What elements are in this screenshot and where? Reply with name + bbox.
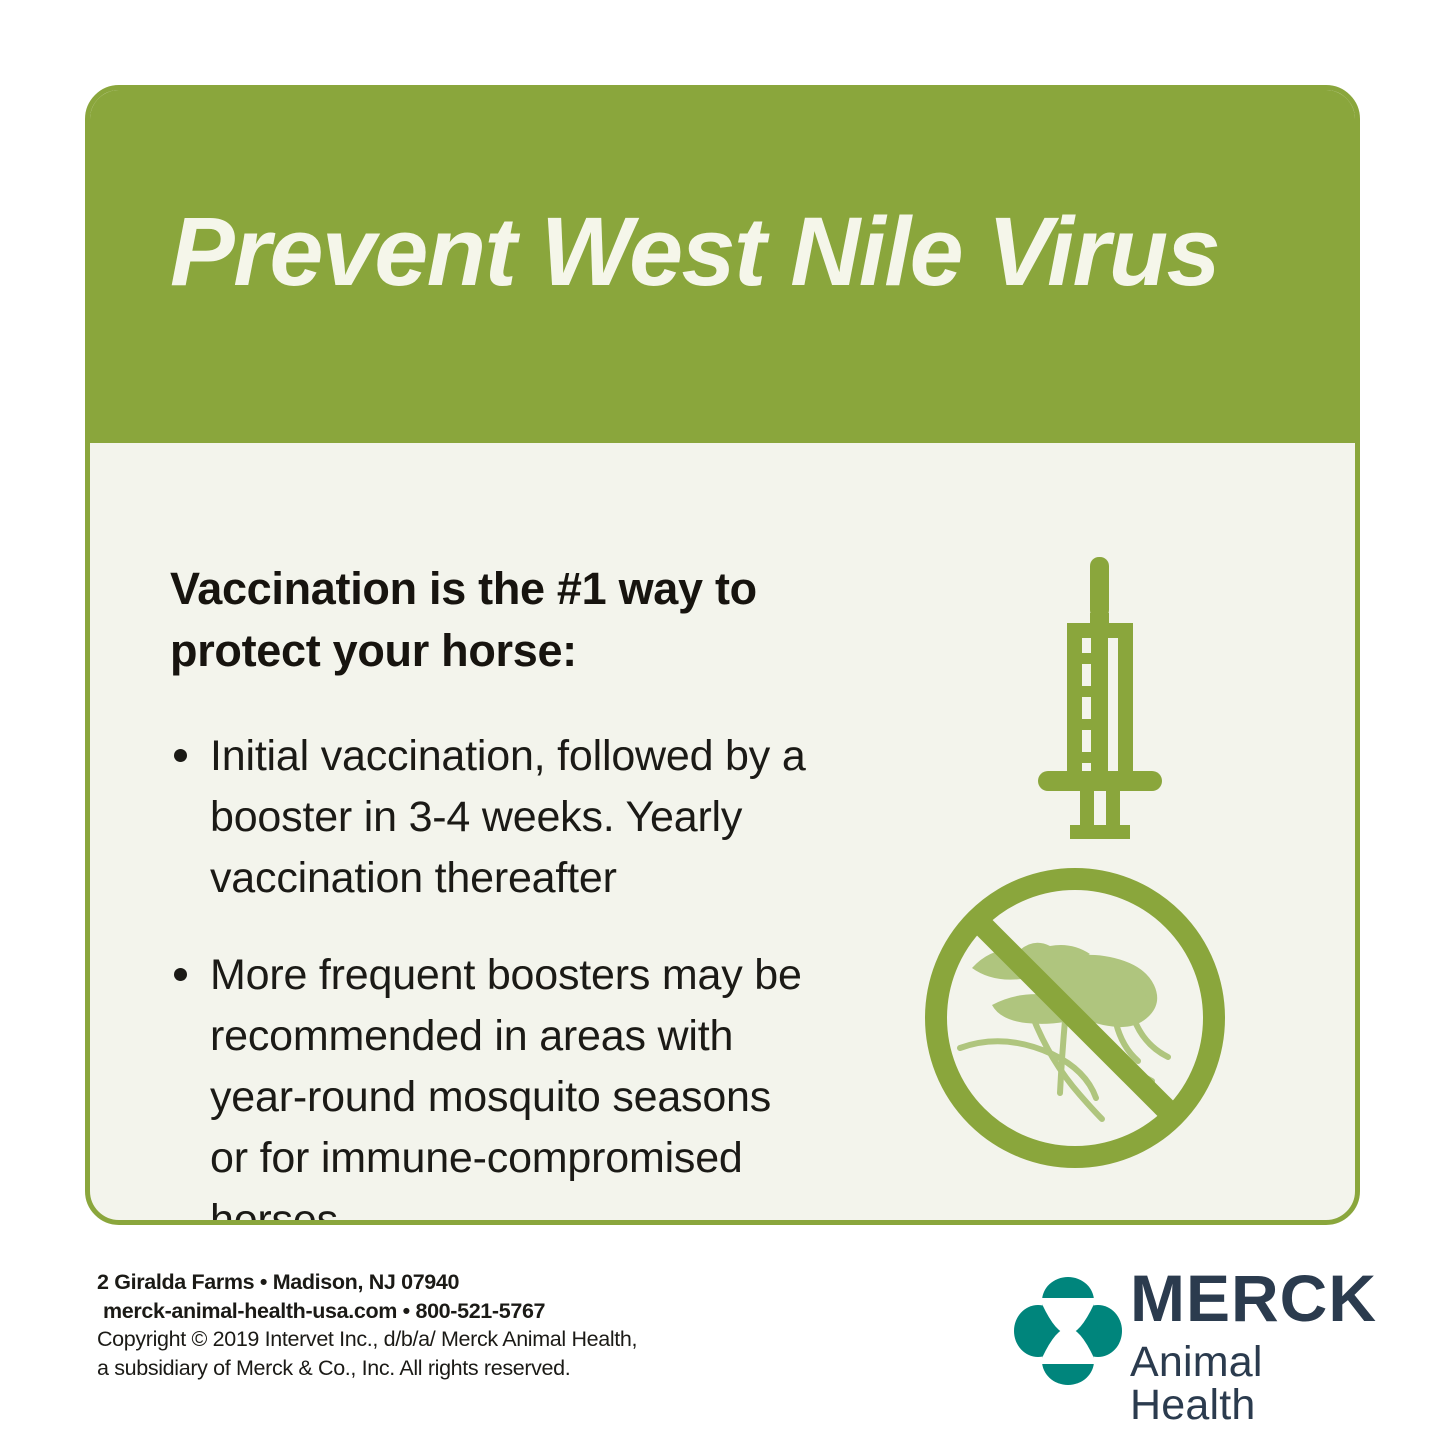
merck-wordmark-text: MERCK: [1130, 1261, 1377, 1335]
icon-column: [890, 518, 1310, 1218]
page-title: Prevent West Nile Virus: [170, 203, 1219, 300]
animal-health-text: Animal Health: [1130, 1341, 1377, 1427]
footer-address-block: 2 Giralda Farms • Madison, NJ 07940 merc…: [97, 1268, 737, 1382]
list-item: Initial vaccination, followed by a boost…: [170, 726, 810, 909]
list-item: More frequent boosters may be recommende…: [170, 945, 810, 1225]
syringe-icon: [1020, 553, 1180, 848]
merck-wordmark: MERCK Animal Health: [1130, 1265, 1377, 1427]
bullet-dot-icon: [174, 968, 187, 981]
list-item-text: Initial vaccination, followed by a boost…: [210, 732, 806, 902]
infographic-card: Prevent West Nile Virus Vaccination is t…: [85, 85, 1360, 1225]
copyright-line: Copyright © 2019 Intervet Inc., d/b/a/ M…: [97, 1325, 737, 1354]
copy-column: Vaccination is the #1 way to protect you…: [170, 558, 810, 1225]
lede-heading: Vaccination is the #1 way to protect you…: [170, 558, 810, 682]
merck-clover-icon: [1012, 1275, 1124, 1392]
footer: 2 Giralda Farms • Madison, NJ 07940 merc…: [0, 1243, 1445, 1443]
bullet-list: Initial vaccination, followed by a boost…: [170, 726, 810, 1225]
card-body: Vaccination is the #1 way to protect you…: [90, 448, 1355, 1220]
merck-animal-health-logo: MERCK Animal Health: [1012, 1257, 1372, 1407]
subsidiary-line: a subsidiary of Merck & Co., Inc. All ri…: [97, 1354, 737, 1383]
list-item-text: More frequent boosters may be recommende…: [210, 951, 802, 1225]
card-header-band: Prevent West Nile Virus: [85, 85, 1360, 443]
address-line: 2 Giralda Farms • Madison, NJ 07940: [97, 1268, 737, 1297]
website-and-phone-line: merck-animal-health-usa.com • 800-521-57…: [97, 1297, 737, 1326]
bullet-dot-icon: [174, 749, 187, 762]
no-mosquito-icon: [920, 863, 1230, 1178]
